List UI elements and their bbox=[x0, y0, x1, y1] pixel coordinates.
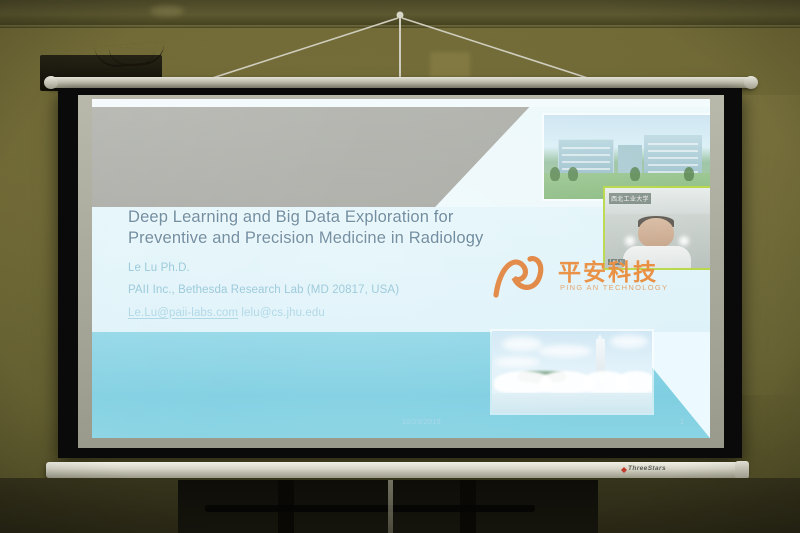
tidal-basin-water bbox=[492, 393, 652, 413]
slide-page-number: 1 bbox=[680, 419, 684, 426]
ceiling-light-spot bbox=[150, 6, 184, 16]
board-divider bbox=[388, 480, 393, 533]
speaker-face bbox=[638, 218, 674, 248]
slide-affiliation: PAII Inc., Bethesda Research Lab (MD 208… bbox=[128, 279, 528, 301]
pingan-english-name: PING AN TECHNOLOGY bbox=[560, 283, 668, 292]
email-primary-link[interactable]: Le.Lu@paii-labs.com bbox=[128, 307, 238, 319]
slide-title-line-1: Deep Learning and Big Data Exploration f… bbox=[128, 208, 454, 226]
ceiling-strip bbox=[0, 0, 800, 26]
dc-cherry-blossom-photo bbox=[492, 331, 652, 413]
threestars-brand-label: ThreeStars bbox=[628, 465, 666, 472]
slide-title: Deep Learning and Big Data Exploration f… bbox=[128, 207, 528, 250]
projector-screen-roller-bar[interactable] bbox=[46, 77, 756, 88]
video-university-label: 西北工业大学 bbox=[609, 193, 651, 204]
ceiling-edge-line bbox=[0, 25, 800, 28]
slide-emails: Le.Lu@paii-labs.com lelu@cs.jhu.edu bbox=[128, 302, 528, 324]
roller-cap-right-icon bbox=[744, 76, 758, 89]
projector-room-scene: 西北工业大学 Le Lu 平安科技 PING AN TECHNOLOGY bbox=[0, 0, 800, 533]
slide-date: 10/23/2019 bbox=[402, 419, 441, 426]
board-rail bbox=[205, 505, 535, 512]
roller-cap-left-icon bbox=[44, 76, 58, 89]
slide-title-line-2: Preventive and Precision Medicine in Rad… bbox=[128, 229, 483, 247]
presentation-slide: 西北工业大学 Le Lu 平安科技 PING AN TECHNOLOGY bbox=[92, 99, 710, 438]
wall-light-patch-top bbox=[430, 52, 470, 78]
office-buildings-photo bbox=[544, 115, 710, 199]
slide-author: Le Lu Ph.D. bbox=[128, 257, 528, 279]
email-secondary-link[interactable]: lelu@cs.jhu.edu bbox=[241, 307, 325, 319]
slide-top-white-strip bbox=[92, 99, 710, 107]
pingan-chinese-name: 平安科技 bbox=[558, 253, 658, 287]
bottom-bar-cap-right-icon bbox=[735, 461, 749, 479]
slide-subtitle-block: Le Lu Ph.D. PAII Inc., Bethesda Research… bbox=[128, 257, 528, 324]
